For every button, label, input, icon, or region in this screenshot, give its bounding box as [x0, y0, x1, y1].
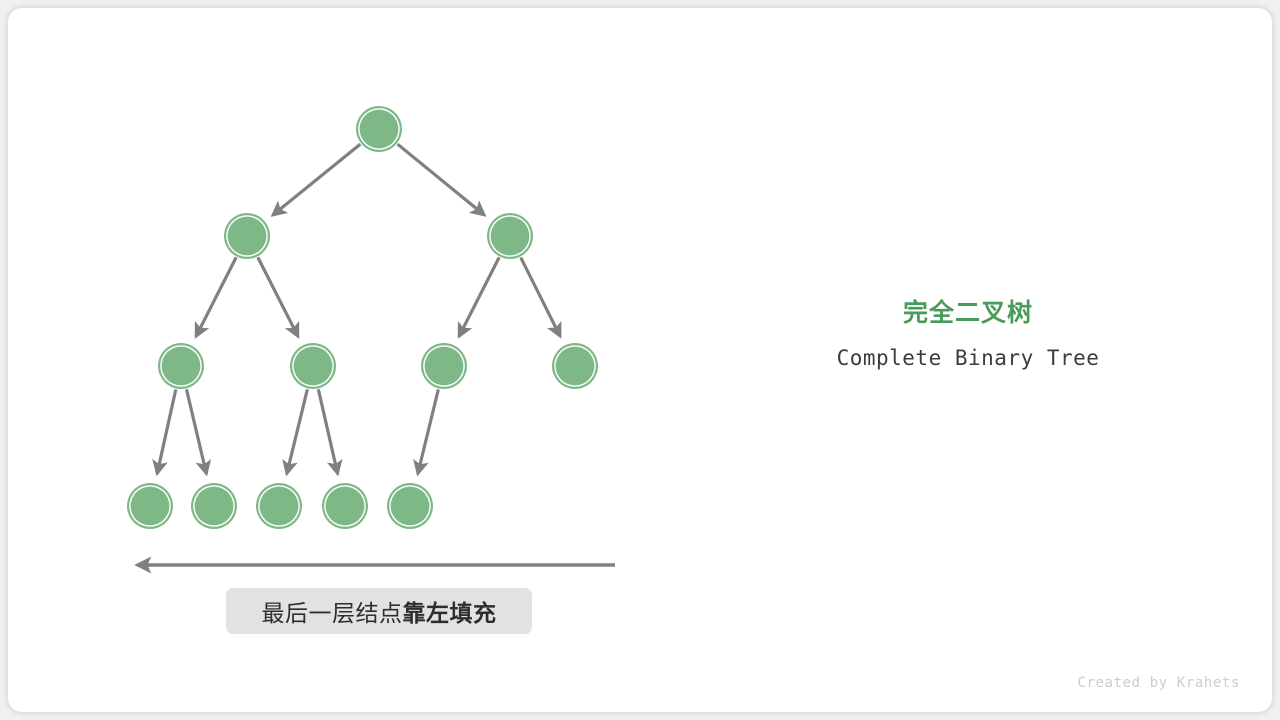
- tree-node: [224, 213, 270, 259]
- page-title-en: Complete Binary Tree: [768, 344, 1168, 372]
- tree-edge: [258, 257, 298, 336]
- tree-edge: [418, 389, 439, 474]
- tree-edge: [521, 257, 561, 336]
- title-block: 完全二叉树 Complete Binary Tree: [768, 296, 1168, 372]
- tree-node: [387, 483, 433, 529]
- tree-node-core: [195, 487, 234, 526]
- tree-edge: [318, 389, 337, 473]
- tree-node-core: [162, 347, 201, 386]
- tree-node-core: [425, 347, 464, 386]
- diagram-page: 完全二叉树 Complete Binary Tree 最后一层结点靠左填充 Cr…: [0, 0, 1280, 720]
- tree-node: [127, 483, 173, 529]
- tree-edge-layer: [157, 144, 560, 474]
- tree-node-core: [326, 487, 365, 526]
- tree-node-core: [131, 487, 170, 526]
- tree-node: [322, 483, 368, 529]
- tree-node-core: [260, 487, 299, 526]
- tree-node: [356, 106, 402, 152]
- footer-credit: Created by Krahets: [900, 675, 1240, 691]
- tree-node-layer: [127, 106, 598, 529]
- tree-node: [421, 343, 467, 389]
- tree-edge: [398, 144, 485, 215]
- tree-node: [158, 343, 204, 389]
- tree-node: [552, 343, 598, 389]
- page-title-cn: 完全二叉树: [768, 296, 1168, 330]
- tree-node-core: [228, 217, 267, 256]
- tree-edge: [273, 144, 361, 215]
- tree-node-core: [294, 347, 333, 386]
- tree-edge: [187, 389, 207, 474]
- annotation-text-emphasis: 靠左填充: [403, 600, 497, 626]
- tree-node-core: [556, 347, 595, 386]
- tree-node: [256, 483, 302, 529]
- tree-node: [487, 213, 533, 259]
- annotation-badge: 最后一层结点靠左填充: [226, 588, 532, 634]
- tree-node-core: [491, 217, 530, 256]
- tree-edge: [157, 389, 176, 473]
- tree-edge: [287, 389, 308, 474]
- annotation-text-normal: 最后一层结点: [262, 600, 403, 626]
- tree-node-core: [391, 487, 430, 526]
- tree-edge: [459, 257, 499, 336]
- tree-node: [191, 483, 237, 529]
- tree-edge: [196, 257, 236, 336]
- tree-node: [290, 343, 336, 389]
- tree-node-core: [360, 110, 399, 149]
- annotation-badge-text: 最后一层结点靠左填充: [262, 594, 497, 628]
